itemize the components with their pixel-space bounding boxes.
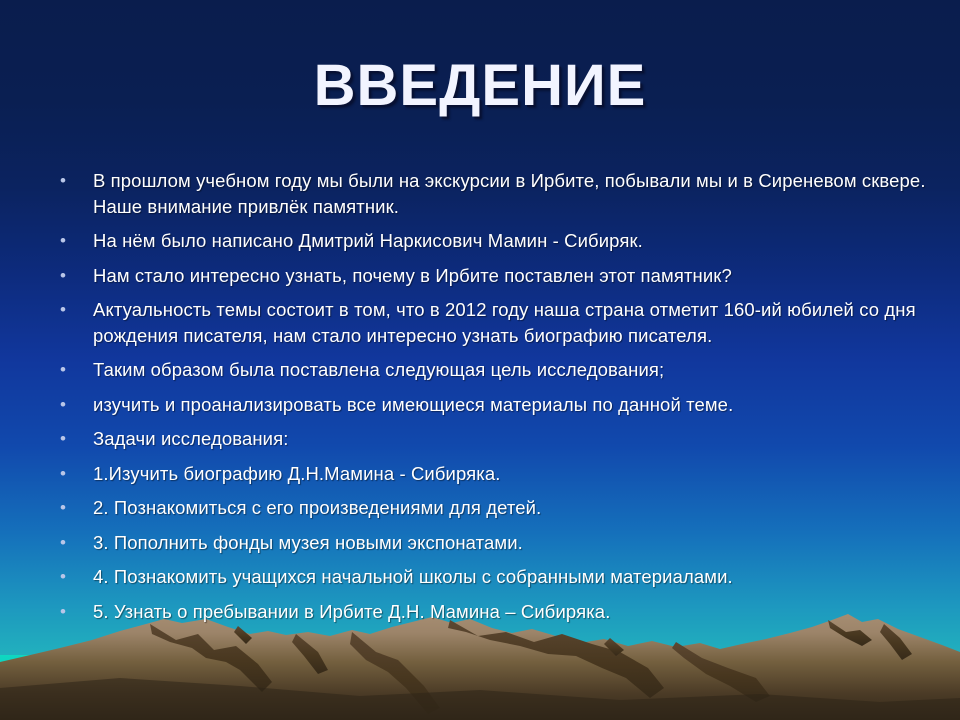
- list-item-text: 3. Пополнить фонды музея новыми экспонат…: [93, 530, 934, 556]
- list-item-text: На нём было написано Дмитрий Наркисович …: [93, 228, 934, 254]
- bullet-point-icon: •: [54, 168, 93, 193]
- bullet-point-icon: •: [54, 228, 93, 253]
- bullet-point-icon: •: [54, 392, 93, 417]
- bullet-point-icon: •: [54, 461, 93, 486]
- list-item: • В прошлом учебном году мы были на экск…: [54, 168, 934, 219]
- bullet-point-icon: •: [54, 297, 93, 322]
- list-item-text: Нам стало интересно узнать, почему в Ирб…: [93, 263, 934, 289]
- list-item: • 2. Познакомиться с его произведениями …: [54, 495, 934, 521]
- list-item: • 5. Узнать о пребывании в Ирбите Д.Н. М…: [54, 599, 934, 625]
- list-item-text: 1.Изучить биографию Д.Н.Мамина - Сибиряк…: [93, 461, 934, 487]
- list-item: • Задачи исследования:: [54, 426, 934, 452]
- list-item: • 4. Познакомить учащихся начальной школ…: [54, 564, 934, 590]
- bullet-list: • В прошлом учебном году мы были на экск…: [54, 168, 934, 633]
- bullet-point-icon: •: [54, 599, 93, 624]
- list-item: • Таким образом была поставлена следующа…: [54, 357, 934, 383]
- bullet-point-icon: •: [54, 495, 93, 520]
- list-item-text: изучить и проанализировать все имеющиеся…: [93, 392, 934, 418]
- bullet-point-icon: •: [54, 564, 93, 589]
- list-item-text: 2. Познакомиться с его произведениями дл…: [93, 495, 934, 521]
- list-item: • На нём было написано Дмитрий Наркисови…: [54, 228, 934, 254]
- list-item-text: Таким образом была поставлена следующая …: [93, 357, 934, 383]
- list-item: • Актуальность темы состоит в том, что в…: [54, 297, 934, 348]
- bullet-point-icon: •: [54, 426, 93, 451]
- list-item-text: 4. Познакомить учащихся начальной школы …: [93, 564, 934, 590]
- list-item-text: Задачи исследования:: [93, 426, 934, 452]
- list-item: • изучить и проанализировать все имеющие…: [54, 392, 934, 418]
- list-item: • 3. Пополнить фонды музея новыми экспон…: [54, 530, 934, 556]
- list-item-text: В прошлом учебном году мы были на экскур…: [93, 168, 934, 219]
- presentation-slide: ВВЕДЕНИЕ • В прошлом учебном году мы был…: [0, 0, 960, 720]
- list-item-text: Актуальность темы состоит в том, что в 2…: [93, 297, 934, 348]
- list-item: • 1.Изучить биографию Д.Н.Мамина - Сибир…: [54, 461, 934, 487]
- bullet-point-icon: •: [54, 357, 93, 382]
- bullet-point-icon: •: [54, 530, 93, 555]
- bullet-point-icon: •: [54, 263, 93, 288]
- slide-title: ВВЕДЕНИЕ: [0, 52, 960, 119]
- list-item-text: 5. Узнать о пребывании в Ирбите Д.Н. Мам…: [93, 599, 934, 625]
- list-item: • Нам стало интересно узнать, почему в И…: [54, 263, 934, 289]
